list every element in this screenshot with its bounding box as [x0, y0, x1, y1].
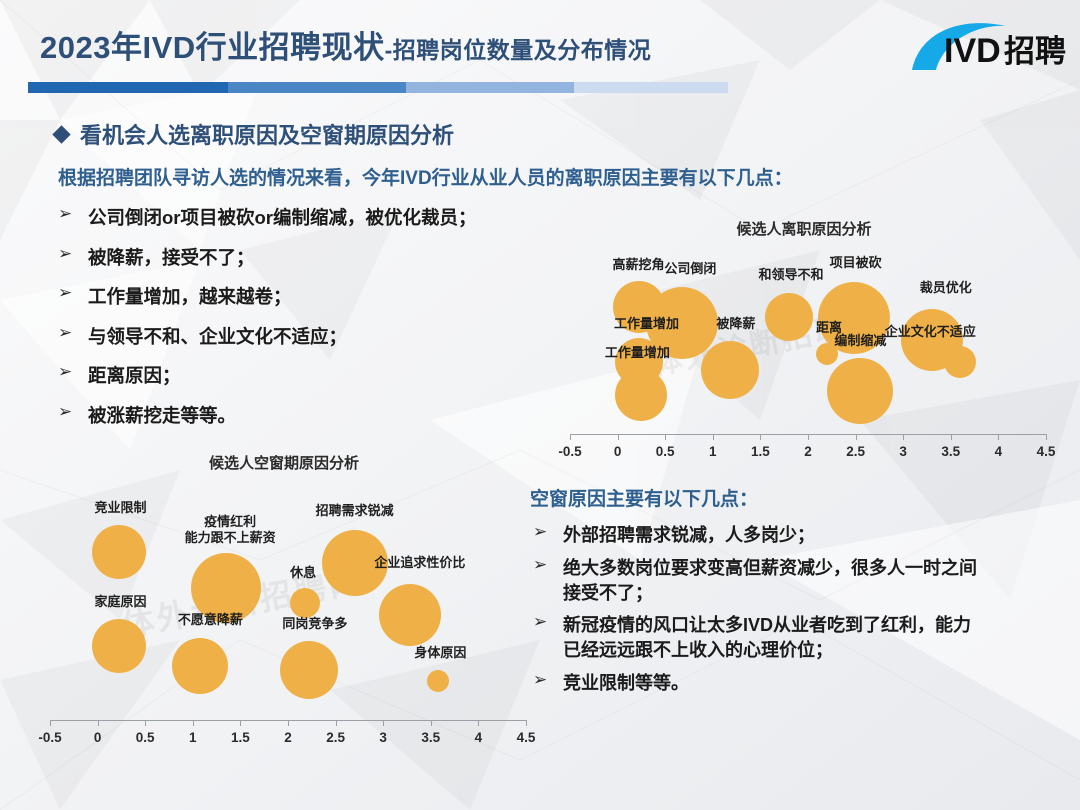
departure-reason-item: ➢距离原因； [58, 363, 578, 389]
departure-reason-item-text: 工作量增加，越来越卷； [88, 284, 292, 310]
bubble-label: 高薪挖角 [613, 257, 665, 273]
x-axis-tick-label: 0.5 [136, 730, 155, 745]
bubble-marker [944, 346, 976, 378]
bubble-label: 企业文化不适应 [885, 324, 976, 340]
svg-text:招聘: 招聘 [1004, 34, 1066, 69]
x-axis-tick [998, 434, 999, 440]
departure-reason-item: ➢被降薪，接受不了； [58, 245, 578, 271]
header-accent-bar [28, 82, 728, 93]
bubble-label: 竞业限制 [95, 500, 147, 516]
bubble-label: 被降薪 [716, 316, 755, 332]
gap-reason-item-text: 新冠疫情的风口让太多IVD从业者吃到了红利，能力已经远远跟不上收入的心理价位； [563, 613, 971, 663]
x-axis-tick-label: 4.5 [1037, 444, 1056, 459]
arrow-bullet-icon: ➢ [58, 324, 76, 343]
bubble-label: 身体原因 [414, 645, 466, 661]
gap-reason-item: ➢绝大多数岗位要求变高但薪资减少，很多人一时之间接受不了； [533, 556, 1058, 606]
bubble-marker [427, 670, 449, 692]
gap-reason-item: ➢竞业限制等等。 [533, 671, 1058, 696]
section-heading-label: 看机会人选离职原因及空窗期原因分析 [80, 118, 454, 150]
x-axis-tick-label: 2 [804, 444, 812, 459]
x-axis-tick [98, 720, 99, 726]
arrow-bullet-icon: ➢ [58, 284, 76, 303]
x-axis-tick-label: 1.5 [231, 730, 250, 745]
bubble-label: 家庭原因 [95, 594, 147, 610]
x-axis-tick-label: 4.5 [517, 730, 536, 745]
x-axis-tick-label: 1 [189, 730, 197, 745]
diamond-bullet-icon [52, 125, 70, 143]
x-axis-tick [288, 720, 289, 726]
bubble-label: 项目被砍 [830, 254, 882, 270]
x-axis-tick [478, 720, 479, 726]
gap-reason-item: ➢新冠疫情的风口让太多IVD从业者吃到了红利，能力已经远远跟不上收入的心理价位； [533, 613, 1058, 663]
x-axis-tick [431, 720, 432, 726]
x-axis-tick [240, 720, 241, 726]
bubble-marker [290, 588, 320, 618]
bubble-label: 编制缩减 [834, 333, 886, 349]
bubble-marker [379, 584, 441, 646]
gap-reason-item-text: 竞业限制等等。 [563, 671, 689, 696]
bubble-label: 裁员优化 [920, 280, 972, 296]
arrow-bullet-icon: ➢ [533, 613, 551, 632]
arrow-bullet-icon: ➢ [533, 523, 551, 542]
departure-reason-item: ➢工作量增加，越来越卷； [58, 284, 578, 310]
arrow-bullet-icon: ➢ [58, 363, 76, 382]
svg-text:IVD: IVD [944, 32, 1001, 70]
x-axis-tick-label: 0 [94, 730, 102, 745]
bubble-marker [92, 525, 146, 579]
departure-reason-item: ➢被涨薪挖走等等。 [58, 403, 578, 429]
x-axis-tick-label: 1.5 [751, 444, 770, 459]
x-axis-tick [1046, 434, 1047, 440]
chart-title: 候选人离职原因分析 [548, 218, 1060, 239]
page-title: 2023年IVD行业招聘现状-招聘岗位数量及分布情况 [40, 22, 651, 67]
x-axis-tick [808, 434, 809, 440]
x-axis-tick [526, 720, 527, 726]
chart-candidate-departure-reasons: 候选人离职原因分析-0.500.511.522.533.544.5高薪挖角公司倒… [548, 218, 1060, 466]
bubble-label: 和领导不和 [758, 267, 823, 283]
arrow-bullet-icon: ➢ [58, 403, 76, 422]
accent-seg-2 [228, 82, 407, 93]
x-axis-tick-label: 3 [899, 444, 907, 459]
page-header: 2023年IVD行业招聘现状-招聘岗位数量及分布情况 IVD 招聘 [0, 0, 1080, 98]
bubble-label: 工作量增加 [605, 345, 670, 361]
x-axis-tick [713, 434, 714, 440]
bubble-label: 疫情红利能力跟不上薪资 [185, 514, 276, 547]
x-axis-tick-label: 4 [995, 444, 1003, 459]
x-axis-tick [618, 434, 619, 440]
bubble-label: 不愿意降薪 [178, 611, 243, 627]
gap-reason-lead: 空窗原因主要有以下几点： [530, 484, 758, 511]
x-axis-tick-label: -0.5 [558, 444, 581, 459]
bubble-label: 同岗竞争多 [282, 616, 347, 632]
accent-seg-1 [28, 82, 228, 93]
chart-candidate-gap-period-reasons: 候选人空窗期原因分析-0.500.511.522.533.544.5竞业限制疫情… [28, 452, 540, 752]
bubble-label: 招聘需求锐减 [316, 503, 394, 519]
lead-paragraph: 根据招聘团队寻访人选的情况来看，今年IVD行业从业人员的离职原因主要有以下几点： [58, 163, 793, 190]
accent-seg-3 [406, 82, 574, 93]
departure-reason-item: ➢与领导不和、企业文化不适应； [58, 324, 578, 350]
bubble-label: 公司倒闭 [664, 261, 716, 277]
x-axis-tick-label: 0.5 [656, 444, 675, 459]
bubble-marker [615, 369, 667, 421]
section-heading: 看机会人选离职原因及空窗期原因分析 [55, 118, 454, 150]
departure-reason-list: ➢公司倒闭or项目被砍or编制缩减，被优化裁员；➢被降薪，接受不了；➢工作量增加… [58, 205, 578, 442]
x-axis-tick-label: 1 [709, 444, 717, 459]
departure-reason-item: ➢公司倒闭or项目被砍or编制缩减，被优化裁员； [58, 205, 578, 231]
bubble-marker [765, 293, 813, 341]
gap-reason-item: ➢外部招聘需求锐减，人多岗少； [533, 523, 1058, 548]
x-axis-tick [665, 434, 666, 440]
x-axis-tick [951, 434, 952, 440]
x-axis-tick-label: 2 [284, 730, 292, 745]
x-axis-tick-label: 2.5 [326, 730, 345, 745]
x-axis-tick-label: 4 [475, 730, 483, 745]
x-axis-tick-label: 0 [614, 444, 622, 459]
page-title-main: 2023年IVD行业招聘现状 [40, 30, 385, 65]
x-axis-tick-label: 3.5 [421, 730, 440, 745]
ivd-logo: IVD 招聘 [906, 16, 1066, 74]
arrow-bullet-icon: ➢ [533, 671, 551, 690]
departure-reason-item-text: 被涨薪挖走等等。 [88, 403, 236, 429]
departure-reason-item-text: 与领导不和、企业文化不适应； [88, 324, 347, 350]
arrow-bullet-icon: ➢ [533, 556, 551, 575]
bubble-label: 企业追求性价比 [374, 554, 465, 570]
page-title-sub: -招聘岗位数量及分布情况 [385, 37, 652, 63]
x-axis-tick [50, 720, 51, 726]
departure-reason-item-text: 距离原因； [88, 363, 181, 389]
bubble-marker [701, 341, 759, 399]
x-axis-tick [193, 720, 194, 726]
bubble-marker [92, 619, 146, 673]
gap-reason-item-text: 外部招聘需求锐减，人多岗少； [563, 523, 815, 548]
x-axis-tick [903, 434, 904, 440]
bubble-marker [827, 358, 893, 424]
bubble-marker [280, 641, 338, 699]
x-axis-tick [383, 720, 384, 726]
bubble-label: 休息 [290, 565, 316, 581]
x-axis-tick-label: 2.5 [846, 444, 865, 459]
x-axis-tick-label: 3.5 [941, 444, 960, 459]
accent-seg-4 [574, 82, 728, 93]
bubble-label: 工作量增加 [614, 316, 679, 332]
x-axis-tick-label: 3 [379, 730, 387, 745]
departure-reason-item-text: 公司倒闭or项目被砍or编制缩减，被优化裁员； [88, 205, 477, 231]
gap-reason-item-text: 绝大多数岗位要求变高但薪资减少，很多人一时之间接受不了； [563, 556, 977, 606]
chart-title: 候选人空窗期原因分析 [28, 452, 540, 473]
x-axis-tick [145, 720, 146, 726]
arrow-bullet-icon: ➢ [58, 205, 76, 224]
departure-reason-item-text: 被降薪，接受不了； [88, 245, 255, 271]
x-axis-tick [760, 434, 761, 440]
gap-reason-list: ➢外部招聘需求锐减，人多岗少；➢绝大多数岗位要求变高但薪资减少，很多人一时之间接… [533, 523, 1058, 704]
x-axis-tick-label: -0.5 [38, 730, 61, 745]
bubble-marker [172, 638, 228, 694]
arrow-bullet-icon: ➢ [58, 245, 76, 264]
x-axis-tick [336, 720, 337, 726]
x-axis-tick [856, 434, 857, 440]
